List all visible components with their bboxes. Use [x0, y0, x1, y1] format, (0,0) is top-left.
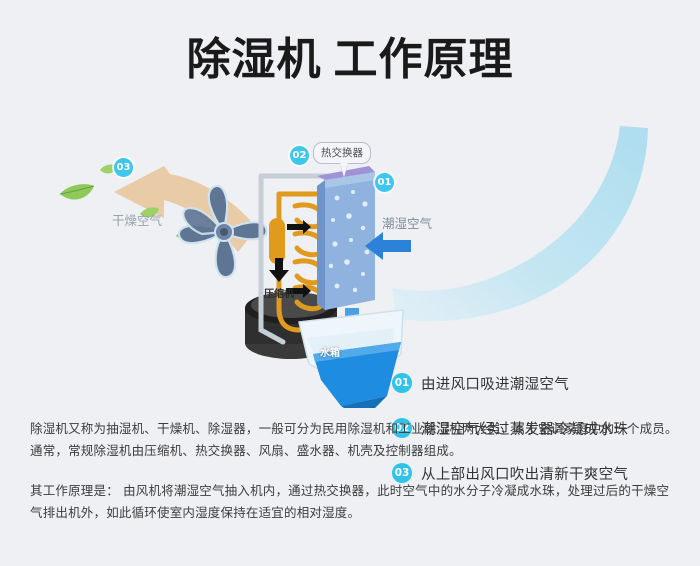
heat-exchanger-callout: 热交换器: [313, 142, 371, 164]
legend-item-01: 01 由进风口吸进潮湿空气: [392, 371, 692, 395]
compressor-label: 压缩机: [264, 285, 294, 300]
legend-label-01: 由进风口吸进潮湿空气: [421, 373, 569, 394]
diagram-marker-01: 01: [375, 173, 394, 192]
diagram-marker-02: 02: [290, 146, 309, 165]
humid-air-label: 潮湿空气: [382, 213, 432, 232]
page-title: 除湿机工作原理: [0, 36, 700, 84]
page-title-part1: 除湿机: [187, 35, 322, 84]
dehumidifier-unit-icon: [225, 158, 415, 408]
legend-badge-01: 01: [392, 373, 412, 393]
diagram-marker-03: 03: [114, 158, 133, 177]
dry-air-label: 干燥空气: [112, 210, 162, 229]
evaporator-icon: [317, 166, 375, 310]
dehumidifier-diagram: 03 02 01 热交换器 干燥空气 潮湿空气 压缩机 水箱 01 由进风口吸进…: [0, 118, 700, 408]
description-section: 除湿机又称为抽湿机、干燥机、除湿器，一般可分为民用除湿机和工业除湿机两大类，属于…: [30, 418, 678, 524]
description-paragraph-2: 其工作原理是： 由风机将潮湿空气抽入机内，通过热交换器，此时空气中的水分子冷凝成…: [30, 480, 678, 524]
page-title-part2: 工作原理: [334, 35, 514, 84]
description-paragraph-1: 除湿机又称为抽湿机、干燥机、除湿器，一般可分为民用除湿机和工业除湿机两大类，属于…: [30, 418, 678, 462]
page-root: 除湿机工作原理: [0, 0, 700, 566]
water-tank-label: 水箱: [320, 344, 340, 359]
